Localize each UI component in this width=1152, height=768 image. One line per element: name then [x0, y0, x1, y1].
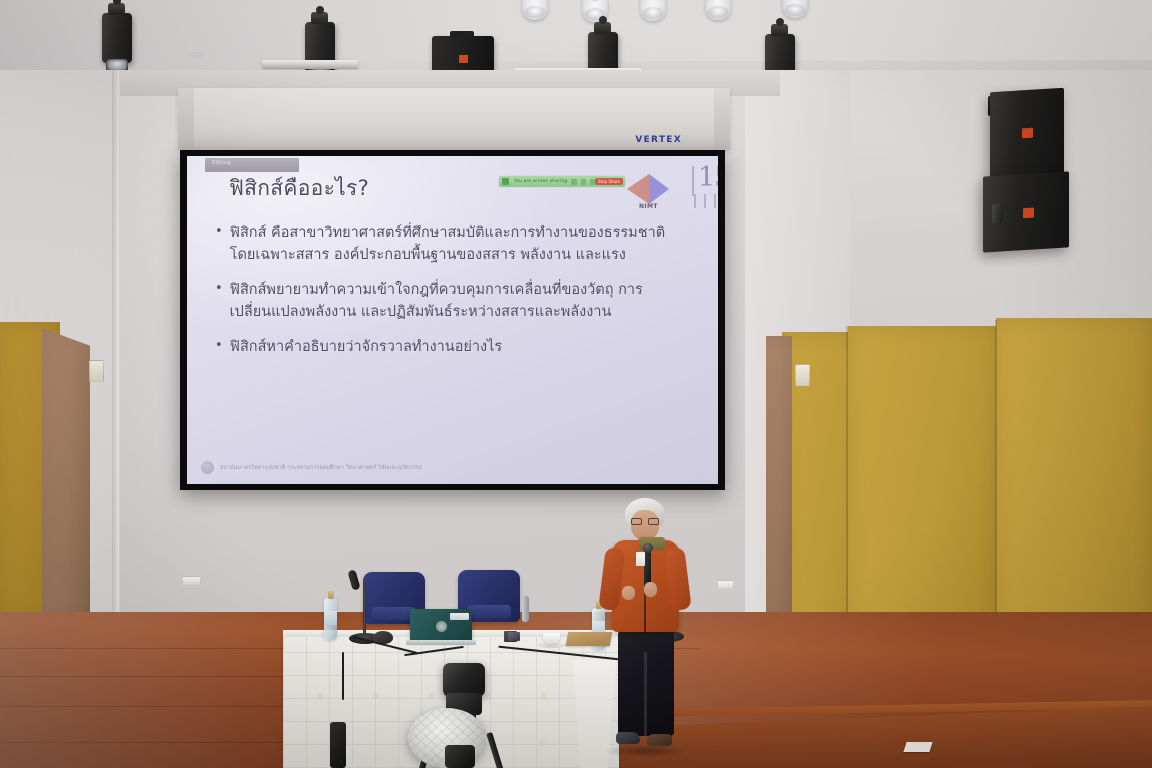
bullet-text: ฟิสิกส์ คือสาขาวิทยาศาสตร์ที่ศึกษาสมบัติ… [230, 222, 694, 266]
footer-logo-icon [201, 461, 214, 474]
equipment-stand [330, 722, 346, 768]
chair-armrest [522, 596, 529, 622]
hp-laptop-screen[interactable] [410, 609, 472, 641]
ceiling-strip-light [262, 60, 358, 69]
recessed-downlight-icon [640, 0, 666, 21]
brand-mark [459, 55, 468, 63]
presenter-hand-left [622, 586, 635, 600]
jbl-speaker-upper [990, 88, 1064, 179]
stop-share-button[interactable]: Stop Share [595, 178, 623, 185]
acoustic-panel-right-edge [766, 336, 792, 630]
acoustic-panel-left-inner [42, 328, 90, 624]
presentation-slide: Editing ฟิสิกส์คืออะไร? You are screen s… [187, 156, 718, 484]
powerpoint-toolbar-strip[interactable]: Editing [205, 158, 299, 172]
housing-end-cap [714, 88, 730, 150]
slide-footer: สถาบันมาตรวิทยาแห่งชาติ กระทรวงการอุดมศึ… [201, 461, 422, 474]
hp-logo-icon [436, 621, 447, 632]
video-camera-head [443, 663, 485, 697]
jbl-logo-icon [1023, 208, 1034, 219]
floor-paper-scrap [903, 742, 932, 752]
water-bottle-left [324, 598, 337, 640]
wall-outlet[interactable] [182, 576, 201, 585]
jbl-speaker-lower [983, 171, 1069, 252]
bullet-marker: • [215, 279, 223, 323]
list-item: • ฟิสิกส์พยายามทำความเข้าใจกฎที่ควบคุมกา… [215, 279, 694, 323]
presenter [598, 498, 692, 760]
slide-title: ฟิสิกส์คืออะไร? [229, 172, 369, 205]
logo-tick-marks [694, 194, 718, 208]
lecture-hall-photo: VERTEX Editing ฟิสิกส์คืออะไร? You are s… [0, 0, 1152, 768]
projector-screen-housing: VERTEX [178, 88, 730, 150]
bullet-text: ฟิสิกส์พยายามทำความเข้าใจกฎที่ควบคุมการเ… [230, 279, 694, 323]
jbl-logo-icon [1022, 128, 1033, 139]
projection-screen: Editing ฟิสิกส์คืออะไร? You are screen s… [180, 150, 725, 490]
logo-diamond-right [649, 174, 669, 204]
name-badge [636, 552, 645, 566]
presenter-shadow [604, 744, 690, 758]
ceiling-vent [190, 52, 204, 57]
track-spotlight-icon [102, 13, 132, 63]
pause-share-icon[interactable] [571, 179, 576, 185]
wall-switch[interactable] [795, 364, 810, 386]
desk-cable [342, 652, 344, 700]
slide-bullet-list: • ฟิสิกส์ คือสาขาวิทยาศาสตร์ที่ศึกษาสมบั… [215, 222, 694, 371]
share-status-icon [502, 178, 509, 185]
tea-cup [543, 633, 560, 644]
bullet-marker: • [215, 336, 223, 358]
glasses-icon [631, 518, 659, 525]
wall-outlet[interactable] [717, 580, 734, 589]
share-message: You are screen sharing [514, 179, 567, 184]
anniversary-logo: 150 [692, 166, 718, 212]
camera-foreground [445, 745, 475, 768]
ceiling-mounted-projector [432, 36, 494, 74]
anniversary-number: 150 [698, 162, 718, 193]
nimt-logo: NIMT [627, 170, 687, 212]
footer-text: สถาบันมาตรวิทยาแห่งชาติ กระทรวงการอุดมศึ… [220, 464, 422, 472]
list-item: • ฟิสิกส์ คือสาขาวิทยาศาสตร์ที่ศึกษาสมบั… [215, 222, 694, 266]
microphone-pole-left [363, 582, 366, 636]
editing-mode-label: Editing [212, 160, 231, 166]
laptop-sticker [450, 613, 469, 620]
nimt-acronym: NIMT [639, 203, 658, 210]
presenter-shoe-left [616, 732, 640, 744]
presenter-shoe-right [646, 734, 672, 746]
housing-end-cap [178, 88, 194, 150]
presenter-trousers [618, 628, 674, 736]
annotate-icon[interactable] [581, 179, 586, 185]
bullet-marker: • [215, 222, 223, 266]
logo-rule-left [692, 166, 694, 196]
presenter-remote[interactable] [508, 632, 520, 641]
vertex-brand-label: VERTEX [635, 135, 682, 145]
wall-switch[interactable] [89, 360, 104, 382]
logo-diamond-left [627, 174, 649, 204]
hp-laptop-base[interactable] [406, 640, 476, 645]
speaker-port [992, 203, 1003, 224]
chair-lumbar [467, 605, 511, 618]
bullet-text: ฟิสิกส์หาคำอธิบายว่าจักรวาลทำงานอย่างไร [230, 336, 694, 358]
screen-share-notification-bar[interactable]: You are screen sharing Stop Share [499, 176, 625, 187]
presenter-hand-right [644, 582, 657, 597]
list-item: • ฟิสิกส์หาคำอธิบายว่าจักรวาลทำงานอย่างไ… [215, 336, 694, 358]
